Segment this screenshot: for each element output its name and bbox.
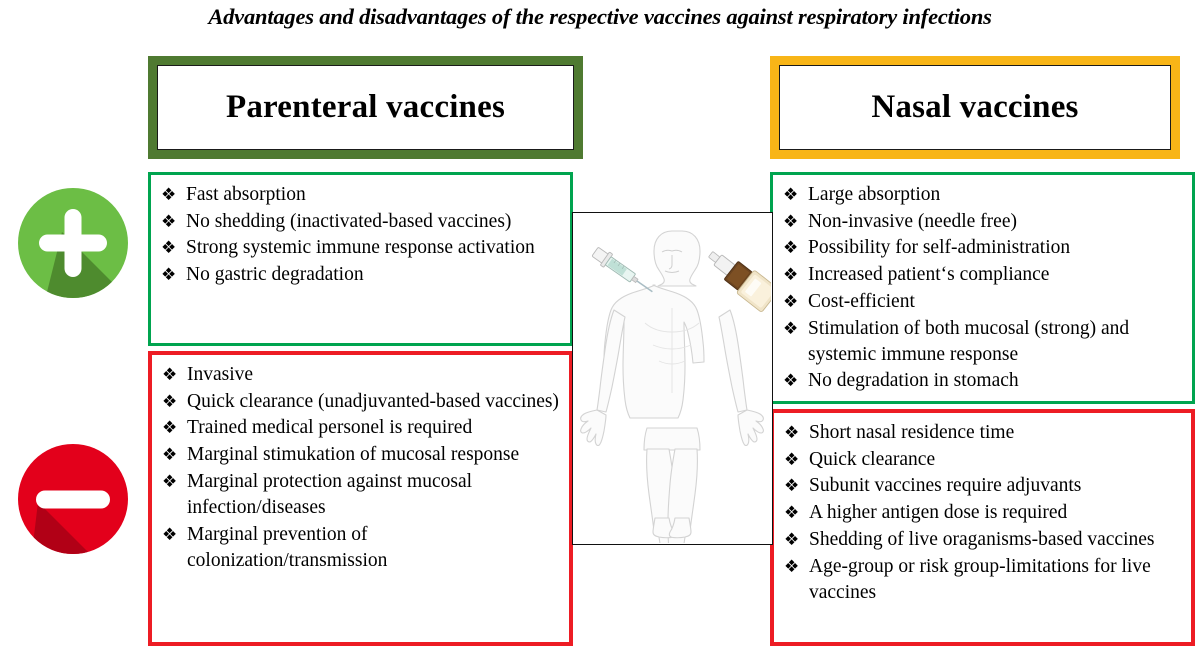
list-item: ❖Shedding of live oraganisms-based vacci… [782, 527, 1185, 553]
diamond-bullet-icon: ❖ [784, 420, 799, 446]
list-item-label: Quick clearance [809, 449, 935, 470]
list-item: ❖Stimulation of both mucosal (strong) an… [781, 316, 1186, 368]
list-item: ❖Marginal protection against mucosal inf… [160, 469, 563, 521]
list-item-label: No gastric degradation [186, 264, 364, 285]
diamond-bullet-icon: ❖ [161, 209, 176, 235]
diamond-bullet-icon: ❖ [162, 442, 177, 468]
list-item-label: Strong systemic immune response activati… [186, 237, 535, 258]
parenteral-disadvantages-list: ❖Invasive❖Quick clearance (unadjuvanted-… [160, 362, 563, 574]
diamond-bullet-icon: ❖ [784, 473, 799, 499]
disadvantages-minus-badge [14, 440, 132, 558]
advantages-plus-badge [14, 184, 132, 302]
nasal-advantages-box: ❖Large absorption❖Non-invasive (needle f… [770, 172, 1195, 404]
list-item-label: Stimulation of both mucosal (strong) and… [808, 318, 1129, 365]
list-item-label: No degradation in stomach [808, 370, 1019, 391]
diamond-bullet-icon: ❖ [162, 389, 177, 415]
list-item-label: Large absorption [808, 184, 940, 205]
list-item-label: Shedding of live oraganisms-based vaccin… [809, 529, 1155, 550]
diamond-bullet-icon: ❖ [783, 289, 798, 315]
list-item-label: Short nasal residence time [809, 422, 1014, 443]
diamond-bullet-icon: ❖ [783, 368, 798, 394]
nasal-disadvantages-box: ❖Short nasal residence time❖Quick cleara… [770, 409, 1195, 646]
diamond-bullet-icon: ❖ [784, 447, 799, 473]
diamond-bullet-icon: ❖ [162, 362, 177, 388]
parenteral-disadvantages-box: ❖Invasive❖Quick clearance (unadjuvanted-… [148, 351, 573, 646]
list-item-label: Possibility for self-administration [808, 237, 1070, 258]
list-item-label: Subunit vaccines require adjuvants [809, 475, 1081, 496]
list-item: ❖Marginal stimukation of mucosal respons… [160, 442, 563, 468]
header-nasal-inner: Nasal vaccines [779, 65, 1171, 150]
list-item: ❖Increased patient‘s compliance [781, 262, 1186, 288]
list-item-label: Trained medical personel is required [187, 417, 472, 438]
diamond-bullet-icon: ❖ [784, 554, 799, 580]
list-item-label: Invasive [187, 364, 253, 385]
list-item: ❖Subunit vaccines require adjuvants [782, 473, 1185, 499]
diamond-bullet-icon: ❖ [783, 209, 798, 235]
parenteral-advantages-box: ❖Fast absorption❖No shedding (inactivate… [148, 172, 573, 346]
nasal-spray-bottle-icon [702, 243, 771, 313]
diamond-bullet-icon: ❖ [161, 235, 176, 261]
list-item: ❖Fast absorption [159, 182, 564, 208]
list-item-label: Cost-efficient [808, 291, 915, 312]
diamond-bullet-icon: ❖ [784, 500, 799, 526]
diamond-bullet-icon: ❖ [161, 182, 176, 208]
diamond-bullet-icon: ❖ [784, 527, 799, 553]
list-item-label: Marginal stimukation of mucosal response [187, 444, 519, 465]
nasal-advantages-list: ❖Large absorption❖Non-invasive (needle f… [781, 182, 1186, 395]
list-item: ❖Invasive [160, 362, 563, 388]
header-nasal-label: Nasal vaccines [871, 89, 1078, 126]
diamond-bullet-icon: ❖ [783, 235, 798, 261]
list-item: ❖Short nasal residence time [782, 420, 1185, 446]
minus-circle-icon [14, 440, 132, 558]
diamond-bullet-icon: ❖ [783, 316, 798, 342]
plus-circle-icon [14, 184, 132, 302]
center-illustration-frame [572, 212, 773, 545]
diamond-bullet-icon: ❖ [783, 182, 798, 208]
list-item-label: No shedding (inactivated-based vaccines) [186, 211, 511, 232]
list-item: ❖Strong systemic immune response activat… [159, 235, 564, 261]
page-title: Advantages and disadvantages of the resp… [0, 4, 1200, 30]
list-item-label: Age-group or risk group-limitations for … [809, 556, 1151, 603]
list-item: ❖Possibility for self-administration [781, 235, 1186, 261]
list-item: ❖No degradation in stomach [781, 368, 1186, 394]
list-item: ❖Marginal prevention of colonization/tra… [160, 522, 563, 574]
list-item-label: Fast absorption [186, 184, 306, 205]
diamond-bullet-icon: ❖ [162, 469, 177, 495]
header-nasal-vaccines: Nasal vaccines [770, 56, 1180, 159]
list-item-label: Non-invasive (needle free) [808, 211, 1017, 232]
list-item-label: Marginal prevention of colonization/tran… [187, 524, 387, 571]
diamond-bullet-icon: ❖ [161, 262, 176, 288]
list-item-label: Marginal protection against mucosal infe… [187, 471, 472, 518]
list-item: ❖Quick clearance [782, 447, 1185, 473]
list-item-label: Quick clearance (unadjuvanted-based vacc… [187, 391, 559, 412]
list-item: ❖Age-group or risk group-limitations for… [782, 554, 1185, 606]
diamond-bullet-icon: ❖ [162, 415, 177, 441]
list-item: ❖Trained medical personel is required [160, 415, 563, 441]
list-item: ❖No gastric degradation [159, 262, 564, 288]
list-item: ❖Non-invasive (needle free) [781, 209, 1186, 235]
diamond-bullet-icon: ❖ [783, 262, 798, 288]
list-item: ❖Cost-efficient [781, 289, 1186, 315]
list-item-label: A higher antigen dose is required [809, 502, 1067, 523]
diamond-bullet-icon: ❖ [162, 522, 177, 548]
list-item: ❖Quick clearance (unadjuvanted-based vac… [160, 389, 563, 415]
nasal-disadvantages-list: ❖Short nasal residence time❖Quick cleara… [782, 420, 1185, 606]
list-item: ❖No shedding (inactivated-based vaccines… [159, 209, 564, 235]
header-parenteral-label: Parenteral vaccines [226, 89, 505, 126]
list-item: ❖A higher antigen dose is required [782, 500, 1185, 526]
parenteral-advantages-list: ❖Fast absorption❖No shedding (inactivate… [159, 182, 564, 288]
header-parenteral-inner: Parenteral vaccines [157, 65, 574, 150]
human-body-with-syringe-and-nasal-spray [573, 213, 771, 543]
list-item-label: Increased patient‘s compliance [808, 264, 1049, 285]
list-item: ❖Large absorption [781, 182, 1186, 208]
header-parenteral-vaccines: Parenteral vaccines [148, 56, 583, 159]
